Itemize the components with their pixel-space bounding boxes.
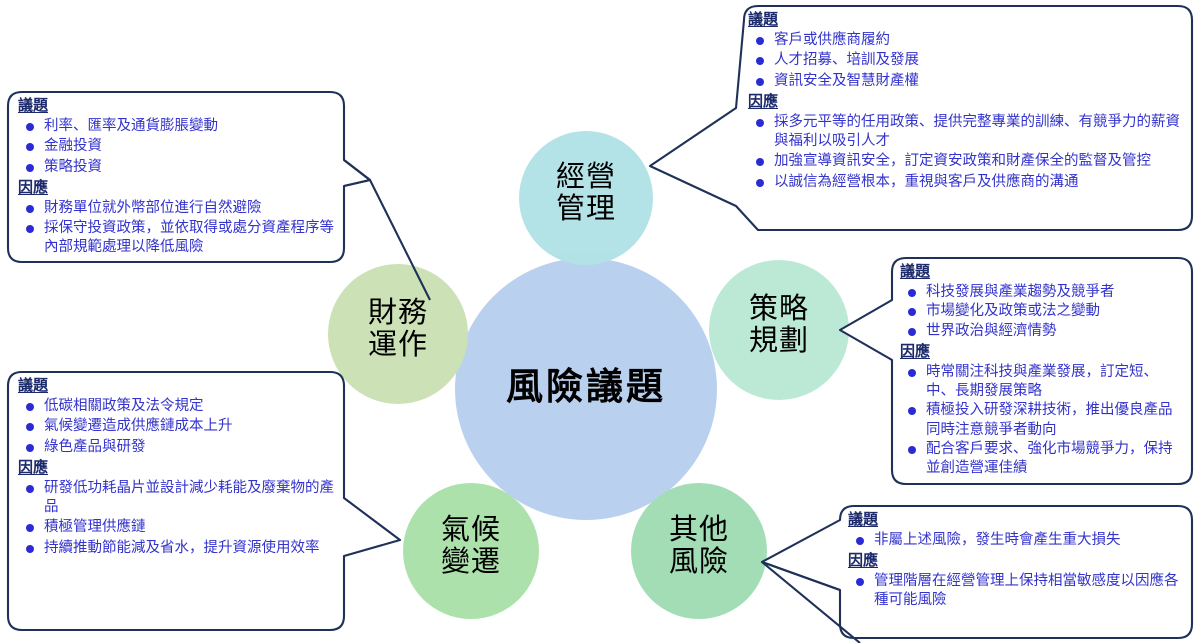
list-item: 以誠信為經營根本，重視與客戶及供應商的溝通 — [748, 173, 1188, 192]
list-item: 採多元平等的任用政策、提供完整專業的訓練、有競爭力的薪資與福利以吸引人才 — [748, 113, 1188, 152]
issue-list-operations-management: 客戶或供應商履約 人才招募、培訓及發展 資訊安全及智慧財產權 — [748, 31, 1188, 91]
list-item: 配合客戶要求、強化市場競爭力，保持並創造營運佳績 — [900, 440, 1186, 479]
callout-header-issue-financial: 議題 — [18, 96, 342, 116]
list-item: 策略投資 — [18, 158, 342, 177]
list-item: 積極管理供應鏈 — [18, 518, 342, 537]
issue-list-other-risks: 非屬上述風險，發生時會產生重大損失 — [848, 531, 1188, 550]
callout-operations-management: 議題 客戶或供應商履約 人才招募、培訓及發展 資訊安全及智慧財產權 因應 採多元… — [748, 10, 1188, 193]
response-list-financial-operations: 財務單位就外幣部位進行自然避險 採保守投資政策，並依取得或處分資產程序等內部規範… — [18, 199, 342, 258]
list-item: 採保守投資政策，並依取得或處分資產程序等內部規範處理以降低風險 — [18, 219, 342, 258]
callout-header-issue-strategic: 議題 — [900, 262, 1186, 282]
list-item: 管理階層在經營管理上保持相當敏感度以因應各種可能風險 — [848, 572, 1188, 611]
list-item: 市場變化及政策或法之變動 — [900, 302, 1186, 321]
callout-other-risks: 議題 非屬上述風險，發生時會產生重大損失 因應 管理階層在經營管理上保持相當敏感… — [848, 510, 1188, 612]
list-item: 科技發展與產業趨勢及競爭者 — [900, 283, 1186, 302]
response-list-operations-management: 採多元平等的任用政策、提供完整專業的訓練、有競爭力的薪資與福利以吸引人才 加強宣… — [748, 113, 1188, 192]
callout-strategic-planning: 議題 科技發展與產業趨勢及競爭者 市場變化及政策或法之變動 世界政治與經濟情勢 … — [900, 262, 1186, 479]
callout-header-issue-other: 議題 — [848, 510, 1188, 530]
response-list-strategic-planning: 時常關注科技與產業發展，訂定短、中、長期發展策略 積極投入研發深耕技術，推出優良… — [900, 363, 1186, 479]
callout-climate-change: 議題 低碳相關政策及法令規定 氣候變遷造成供應鏈成本上升 綠色產品與研發 因應 … — [18, 376, 342, 559]
risk-topics-diagram: 風險議題 經營 管理 財務 運作 策略 規劃 氣候 變遷 其他 風險 議題 利率… — [0, 0, 1200, 643]
callout-header-issue-operations: 議題 — [748, 10, 1188, 30]
callout-header-response-other: 因應 — [848, 551, 1188, 571]
list-item: 低碳相關政策及法令規定 — [18, 397, 342, 416]
response-list-other-risks: 管理階層在經營管理上保持相當敏感度以因應各種可能風險 — [848, 572, 1188, 611]
list-item: 利率、匯率及通貨膨脹變動 — [18, 117, 342, 136]
list-item: 加強宣導資訊安全，訂定資安政策和財產保全的監督及管控 — [748, 152, 1188, 171]
list-item: 非屬上述風險，發生時會產生重大損失 — [848, 531, 1188, 550]
response-list-climate-change: 研發低功耗晶片並設計減少耗能及廢棄物的產品 積極管理供應鏈 持續推動節能減及省水… — [18, 479, 342, 558]
list-item: 積極投入研發深耕技術，推出優良產品同時注意競爭者動向 — [900, 401, 1186, 440]
list-item: 金融投資 — [18, 137, 342, 156]
callout-header-issue-climate: 議題 — [18, 376, 342, 396]
list-item: 資訊安全及智慧財產權 — [748, 72, 1188, 91]
callout-financial-operations: 議題 利率、匯率及通貨膨脹變動 金融投資 策略投資 因應 財務單位就外幣部位進行… — [18, 96, 342, 259]
list-item: 客戶或供應商履約 — [748, 31, 1188, 50]
callout-header-response-operations: 因應 — [748, 92, 1188, 112]
list-item: 氣候變遷造成供應鏈成本上升 — [18, 417, 342, 436]
list-item: 時常關注科技與產業發展，訂定短、中、長期發展策略 — [900, 363, 1186, 402]
list-item: 持續推動節能減及省水，提升資源使用效率 — [18, 539, 342, 558]
issue-list-climate-change: 低碳相關政策及法令規定 氣候變遷造成供應鏈成本上升 綠色產品與研發 — [18, 397, 342, 457]
issue-list-financial-operations: 利率、匯率及通貨膨脹變動 金融投資 策略投資 — [18, 117, 342, 177]
list-item: 綠色產品與研發 — [18, 438, 342, 457]
callout-header-response-climate: 因應 — [18, 458, 342, 478]
list-item: 世界政治與經濟情勢 — [900, 322, 1186, 341]
list-item: 研發低功耗晶片並設計減少耗能及廢棄物的產品 — [18, 479, 342, 518]
list-item: 人才招募、培訓及發展 — [748, 51, 1188, 70]
callout-header-response-strategic: 因應 — [900, 342, 1186, 362]
issue-list-strategic-planning: 科技發展與產業趨勢及競爭者 市場變化及政策或法之變動 世界政治與經濟情勢 — [900, 283, 1186, 341]
list-item: 財務單位就外幣部位進行自然避險 — [18, 199, 342, 218]
callout-header-response-financial: 因應 — [18, 178, 342, 198]
